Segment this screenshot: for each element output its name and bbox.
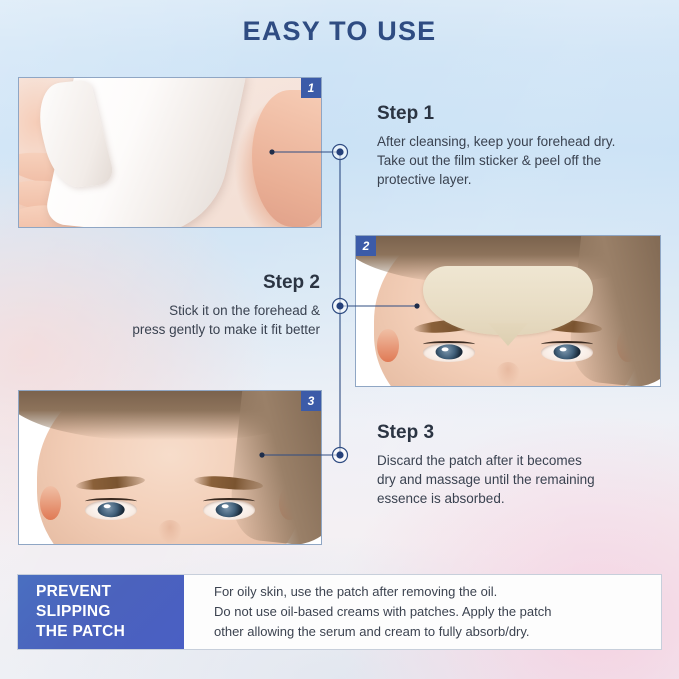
step-1-body-line: After cleansing, keep your forehead dry. xyxy=(377,132,657,151)
step-2-body: Stick it on the forehead & press gently … xyxy=(36,301,320,339)
banner-label-line: SLIPPING xyxy=(36,602,184,622)
step-3-text-block: Step 3 Discard the patch after it become… xyxy=(377,422,649,508)
banner-body-line: For oily skin, use the patch after remov… xyxy=(214,582,661,602)
banner-body: For oily skin, use the patch after remov… xyxy=(184,575,661,649)
step-2-badge: 2 xyxy=(356,236,376,256)
step-3-body: Discard the patch after it becomes dry a… xyxy=(377,451,649,508)
connector-node-step-3 xyxy=(333,448,348,463)
hair-left xyxy=(19,391,113,544)
forehead-clear-scene xyxy=(19,391,321,544)
step-2-image: 2 xyxy=(355,235,661,387)
connector-node-step-2 xyxy=(333,299,348,314)
step-1-body-line: protective layer. xyxy=(377,170,657,189)
step-1-title: Step 1 xyxy=(377,103,657,125)
forehead-with-patch-scene xyxy=(356,236,660,386)
step-3-body-line: Discard the patch after it becomes xyxy=(377,451,649,470)
banner-label-line: THE PATCH xyxy=(36,622,184,642)
eyelash-left xyxy=(423,341,475,348)
connector-node-step-1 xyxy=(333,145,348,160)
eyelash-right xyxy=(203,498,254,505)
hair-right xyxy=(227,391,321,544)
eye-right xyxy=(541,343,593,363)
step-3-badge: 3 xyxy=(301,391,321,411)
film-sticker-scene xyxy=(19,78,321,227)
step-2-body-line: press gently to make it fit better xyxy=(36,320,320,339)
eye-right xyxy=(203,500,254,520)
step-1-image: 1 xyxy=(18,77,322,228)
eye-left xyxy=(423,343,475,363)
step-1-body-line: Take out the film sticker & peel off the xyxy=(377,151,657,170)
step-3-body-line: dry and massage until the remaining xyxy=(377,470,649,489)
banner-body-line: Do not use oil-based creams with patches… xyxy=(214,602,661,622)
banner-label-line: PREVENT xyxy=(36,582,184,602)
eyelash-left xyxy=(85,498,136,505)
step-1-badge: 1 xyxy=(301,78,321,98)
eyelash-right xyxy=(541,341,593,348)
banner-label: PREVENT SLIPPING THE PATCH xyxy=(18,575,184,649)
prevent-slipping-banner: PREVENT SLIPPING THE PATCH For oily skin… xyxy=(17,574,662,650)
nose-bridge xyxy=(496,362,520,386)
step-2-title: Step 2 xyxy=(36,272,320,294)
step-2-text-block: Step 2 Stick it on the forehead & press … xyxy=(36,272,320,339)
thumb-shape xyxy=(252,90,322,227)
infographic-page: EASY TO USE 1 xyxy=(0,0,679,679)
nose-bridge xyxy=(158,520,182,544)
eye-left xyxy=(85,500,136,520)
page-title: EASY TO USE xyxy=(0,16,679,47)
step-3-image: 3 xyxy=(18,390,322,545)
step-1-body: After cleansing, keep your forehead dry.… xyxy=(377,132,657,189)
step-3-body-line: essence is absorbed. xyxy=(377,489,649,508)
step-3-title: Step 3 xyxy=(377,422,649,444)
banner-body-line: other allowing the serum and cream to fu… xyxy=(214,622,661,642)
step-2-body-line: Stick it on the forehead & xyxy=(36,301,320,320)
step-1-text-block: Step 1 After cleansing, keep your forehe… xyxy=(377,103,657,189)
